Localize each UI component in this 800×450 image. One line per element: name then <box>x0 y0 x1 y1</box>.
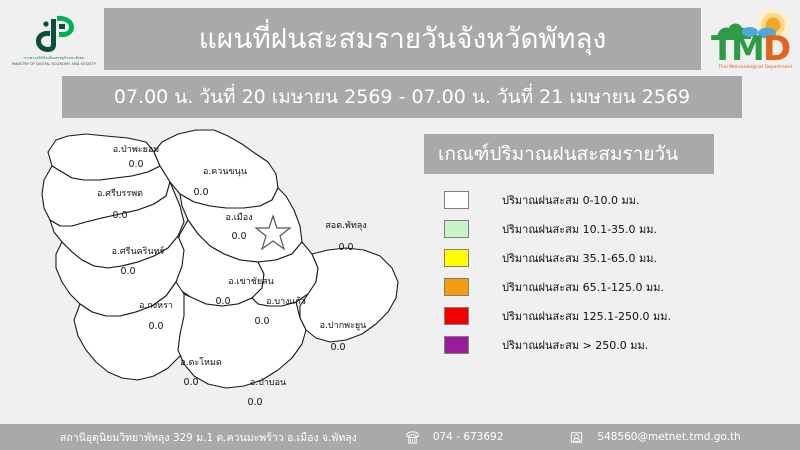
district-value: 0.0 <box>247 397 262 408</box>
district-value: 0.0 <box>215 296 230 307</box>
tmd-tagline: Thai Meteorological Department <box>717 64 792 70</box>
legend-swatch <box>444 307 469 325</box>
district-value: 0.0 <box>183 377 198 388</box>
page-title: แผนที่ฝนสะสมรายวันจังหวัดพัทลุง <box>199 24 607 55</box>
ministry-name-th: กระทรวงดิจิทัลเพื่อเศรษฐกิจและสังคม <box>24 55 85 61</box>
legend-title: เกณฑ์ปริมาณฝนสะสมรายวัน <box>438 139 678 169</box>
district-value: 0.0 <box>231 231 246 242</box>
district-value: 0.0 <box>330 342 345 353</box>
envelope-icon <box>569 430 584 445</box>
district-label: อ.กงหรา <box>139 301 173 311</box>
district-label: อ.บางแก้ว <box>266 296 306 307</box>
svg-text:D: D <box>763 29 791 69</box>
legend-swatch <box>444 191 469 209</box>
legend-item-label: ปริมาณฝนสะสม > 250.0 มม. <box>502 336 648 354</box>
legend: เกณฑ์ปริมาณฝนสะสมรายวัน ปริมาณฝนสะสม 0-1… <box>424 134 724 360</box>
legend-item: ปริมาณฝนสะสม 0-10.0 มม. <box>424 186 724 214</box>
district-value: 0.0 <box>193 187 208 198</box>
ministry-des-logo-icon <box>26 12 82 54</box>
legend-item-label: ปริมาณฝนสะสม 35.1-65.0 มม. <box>502 249 657 267</box>
district-label: อ.ศรีบรรพต <box>97 188 143 199</box>
district-label: อ.ควนขนุน <box>203 167 247 177</box>
legend-swatch <box>444 278 469 296</box>
footer-address: สถานีอุตุนิยมวิทยาพัทลุง 329 ม.1 ต.ควนมะ… <box>60 429 357 446</box>
legend-item: ปริมาณฝนสะสม 65.1-125.0 มม. <box>424 273 724 301</box>
legend-item-label: ปริมาณฝนสะสม 0-10.0 มม. <box>502 191 640 209</box>
legend-item: ปริมาณฝนสะสม 10.1-35.0 มม. <box>424 215 724 243</box>
province-map: อ.ป่าพะยอม 0.0 อ.ควนขนุน 0.0 อ.ศรีบรรพต … <box>28 122 428 414</box>
district-label: อ.เมือง <box>225 212 252 223</box>
title-bar: แผนที่ฝนสะสมรายวันจังหวัดพัทลุง <box>104 8 701 70</box>
district-label: อ.ป่าบอน <box>250 378 286 388</box>
district-label: อ.ตะโหมด <box>180 357 222 368</box>
district-value: 0.0 <box>148 321 163 332</box>
district-label: อ.ปากพะยูน <box>320 321 367 331</box>
district-value: 0.0 <box>254 316 269 327</box>
district-value: 0.0 <box>128 159 143 170</box>
legend-item-label: ปริมาณฝนสะสม 125.1-250.0 มม. <box>502 307 671 325</box>
district-value: 0.0 <box>112 210 127 221</box>
legend-item: ปริมาณฝนสะสม > 250.0 มม. <box>424 331 724 359</box>
district-value: 0.0 <box>120 266 135 277</box>
footer-phone-group: 074 - 673692 <box>405 430 504 445</box>
footer-email-address: S48560@metnet.tmd.go.th <box>597 431 740 443</box>
legend-swatch <box>444 336 469 354</box>
station-label: สอต.พัทลุง <box>325 221 366 231</box>
footer-phone-number: 074 - 673692 <box>433 431 504 443</box>
ministry-logo: กระทรวงดิจิทัลเพื่อเศรษฐกิจและสังคม MINI… <box>8 6 100 72</box>
date-range-text: 07.00 น. วันที่ 20 เมษายน 2569 - 07.00 น… <box>114 82 690 112</box>
phatthalung-map-svg: อ.ป่าพะยอม 0.0 อ.ควนขนุน 0.0 อ.ศรีบรรพต … <box>28 122 428 414</box>
legend-header: เกณฑ์ปริมาณฝนสะสมรายวัน <box>424 134 714 174</box>
district-label: อ.ป่าพะยอม <box>113 145 159 155</box>
rainfall-map-page: กระทรวงดิจิทัลเพื่อเศรษฐกิจและสังคม MINI… <box>0 0 800 450</box>
legend-item-label: ปริมาณฝนสะสม 65.1-125.0 มม. <box>502 278 664 296</box>
legend-swatch <box>444 220 469 238</box>
legend-item-label: ปริมาณฝนสะสม 10.1-35.0 มม. <box>502 220 657 238</box>
station-value: 0.0 <box>338 242 353 253</box>
telephone-icon <box>405 430 420 445</box>
tmd-logo-icon: T M D Thai Meteorological Department <box>705 5 797 73</box>
district-label: อ.ศรีนครินทร์ <box>112 245 165 257</box>
ministry-name-en: MINISTRY OF DIGITAL ECONOMY AND SOCIETY <box>12 62 96 66</box>
footer-email-group: S48560@metnet.tmd.go.th <box>569 430 740 445</box>
legend-item: ปริมาณฝนสะสม 35.1-65.0 มม. <box>424 244 724 272</box>
district-label: อ.เขาชัยสน <box>228 277 274 287</box>
footer-bar: สถานีอุตุนิยมวิทยาพัทลุง 329 ม.1 ต.ควนมะ… <box>0 424 800 450</box>
date-range-bar: 07.00 น. วันที่ 20 เมษายน 2569 - 07.00 น… <box>62 76 742 118</box>
legend-swatch <box>444 249 469 267</box>
legend-item: ปริมาณฝนสะสม 125.1-250.0 มม. <box>424 302 724 330</box>
tmd-logo: T M D Thai Meteorological Department <box>705 5 797 73</box>
svg-text:M: M <box>731 29 765 69</box>
legend-items: ปริมาณฝนสะสม 0-10.0 มม. ปริมาณฝนสะสม 10.… <box>424 186 724 359</box>
